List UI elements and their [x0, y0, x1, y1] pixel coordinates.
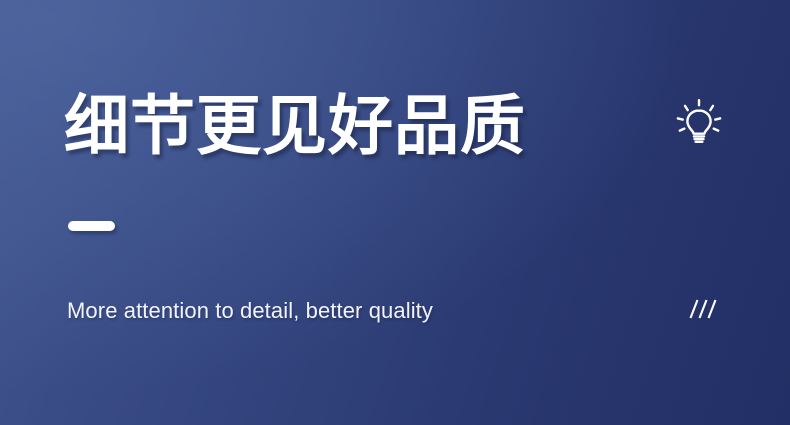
slashes-icon	[683, 296, 719, 322]
subtitle-text: More attention to detail, better quality	[67, 296, 433, 326]
promo-banner: 细节更见好品质 More attention to detail, better…	[0, 0, 790, 425]
page-title: 细节更见好品质	[64, 88, 526, 166]
lightbulb-icon	[676, 98, 722, 148]
title-divider	[68, 221, 115, 231]
